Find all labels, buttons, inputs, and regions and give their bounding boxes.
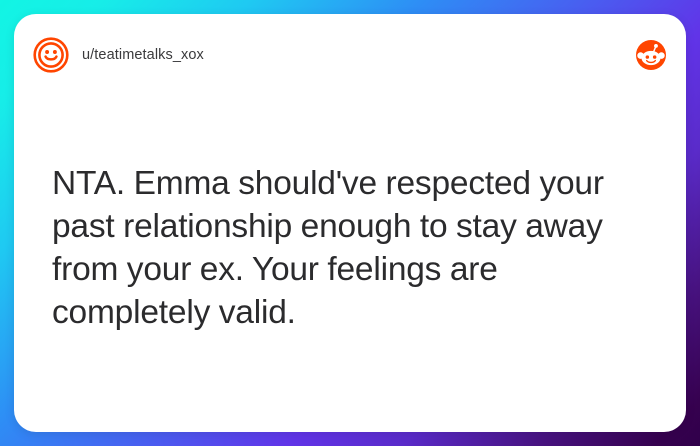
author-block[interactable]: u/teatimetalks_xox bbox=[33, 37, 636, 73]
reddit-snoo-logo-icon[interactable] bbox=[636, 40, 666, 70]
reddit-comment-card: u/teatimetalks_xox bbox=[14, 14, 686, 432]
gradient-backdrop: u/teatimetalks_xox bbox=[0, 0, 700, 446]
card-header: u/teatimetalks_xox bbox=[14, 14, 686, 96]
author-username: u/teatimetalks_xox bbox=[82, 47, 204, 63]
post-body: NTA. Emma should've respected your past … bbox=[52, 162, 640, 334]
smiley-face-avatar-icon bbox=[33, 37, 69, 73]
post-text: NTA. Emma should've respected your past … bbox=[52, 162, 640, 334]
